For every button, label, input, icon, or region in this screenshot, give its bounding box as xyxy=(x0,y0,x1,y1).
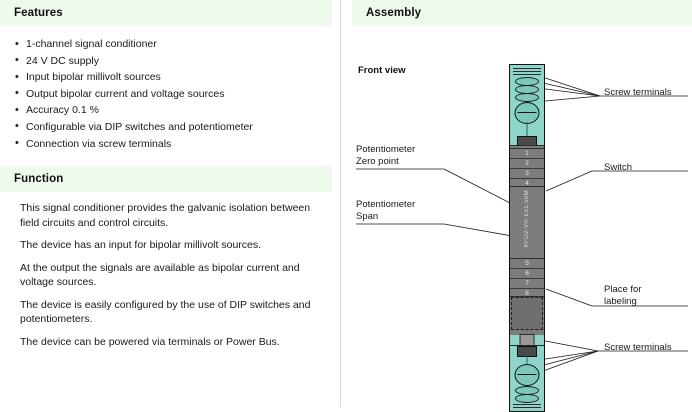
device-module-front-view: 1 2 3 4 KFD2-VR-Ex1.50M 5 6 7 8 xyxy=(509,64,545,412)
assembly-drawing: Front view xyxy=(352,34,692,407)
terminal-number: 2 xyxy=(510,159,544,169)
cap-rib xyxy=(513,68,541,69)
column-divider xyxy=(340,0,341,407)
right-column: Assembly Front view xyxy=(352,0,692,407)
assembly-title: Assembly xyxy=(366,7,421,19)
list-item: Output bipolar current and voltage sourc… xyxy=(26,86,332,103)
list-item: 24 V DC supply xyxy=(26,53,332,70)
screw-terminal-oval xyxy=(515,93,539,102)
callout-potentiometer-span: Potentiometer Span xyxy=(356,199,415,224)
screw-terminal-round xyxy=(515,364,540,386)
features-title: Features xyxy=(14,7,63,19)
terminal-number: 6 xyxy=(510,269,544,279)
connector-stem xyxy=(527,122,528,136)
device-model-text: KFD2-VR-Ex1.50M xyxy=(524,190,530,247)
callout-switch: Switch xyxy=(604,162,632,174)
screw-terminal-round xyxy=(515,102,540,124)
list-item: Configurable via DIP switches and potent… xyxy=(26,119,332,136)
function-paragraph: The device can be powered via terminals … xyxy=(20,335,318,350)
cap-rib xyxy=(513,71,541,72)
datasheet-page: Features 1-channel signal conditioner 24… xyxy=(0,0,692,407)
cap-rib xyxy=(513,407,541,408)
list-item: Input bipolar millivolt sources xyxy=(26,69,332,86)
terminal-numbers-bottom: 5 6 7 8 xyxy=(510,258,544,297)
callout-potentiometer-span-line2: Span xyxy=(356,211,415,223)
callout-place-for-labeling: Place for labeling xyxy=(604,284,642,309)
features-section-header: Features xyxy=(0,0,332,26)
callout-screw-terminals-bottom: Screw terminals xyxy=(604,342,672,354)
callout-screw-terminals-top: Screw terminals xyxy=(604,87,672,99)
left-column: Features 1-channel signal conditioner 24… xyxy=(0,0,332,407)
callout-potentiometer-zero-line1: Potentiometer xyxy=(356,144,415,156)
callout-potentiometer-span-line1: Potentiometer xyxy=(356,199,415,211)
callout-potentiometer-zero-line2: Zero point xyxy=(356,156,415,168)
terminal-number: 5 xyxy=(510,259,544,269)
function-section-header: Function xyxy=(0,166,332,192)
terminal-number: 3 xyxy=(510,169,544,179)
callout-place-for-labeling-line1: Place for xyxy=(604,284,642,296)
function-paragraph: The device is easily configured by the u… xyxy=(20,298,318,327)
terminal-number: 4 xyxy=(510,179,544,188)
callout-potentiometer-zero-point: Potentiometer Zero point xyxy=(356,144,415,169)
list-item: Accuracy 0.1 % xyxy=(26,102,332,119)
terminal-numbers-top: 1 2 3 4 xyxy=(510,148,544,187)
function-title: Function xyxy=(14,173,63,185)
device-model-label: KFD2-VR-Ex1.50M xyxy=(509,190,545,252)
function-paragraph: The device has an input for bipolar mill… xyxy=(20,238,318,253)
function-paragraph: This signal conditioner provides the gal… xyxy=(20,201,318,230)
place-for-labeling-area xyxy=(511,297,543,330)
terminal-number: 1 xyxy=(510,149,544,159)
list-item: 1-channel signal conditioner xyxy=(26,36,332,53)
cap-rib xyxy=(513,404,541,405)
assembly-section-header: Assembly xyxy=(352,0,692,26)
function-paragraph: At the output the signals are available … xyxy=(20,261,318,290)
screw-terminal-oval xyxy=(515,394,539,403)
list-item: Connection via screw terminals xyxy=(26,136,332,153)
function-body: This signal conditioner provides the gal… xyxy=(0,192,332,349)
cap-rib xyxy=(513,74,541,75)
screw-slot xyxy=(518,374,537,375)
features-list: 1-channel signal conditioner 24 V DC sup… xyxy=(0,36,332,152)
terminal-number: 7 xyxy=(510,279,544,289)
callout-place-for-labeling-line2: labeling xyxy=(604,296,642,308)
screw-slot xyxy=(518,112,537,113)
